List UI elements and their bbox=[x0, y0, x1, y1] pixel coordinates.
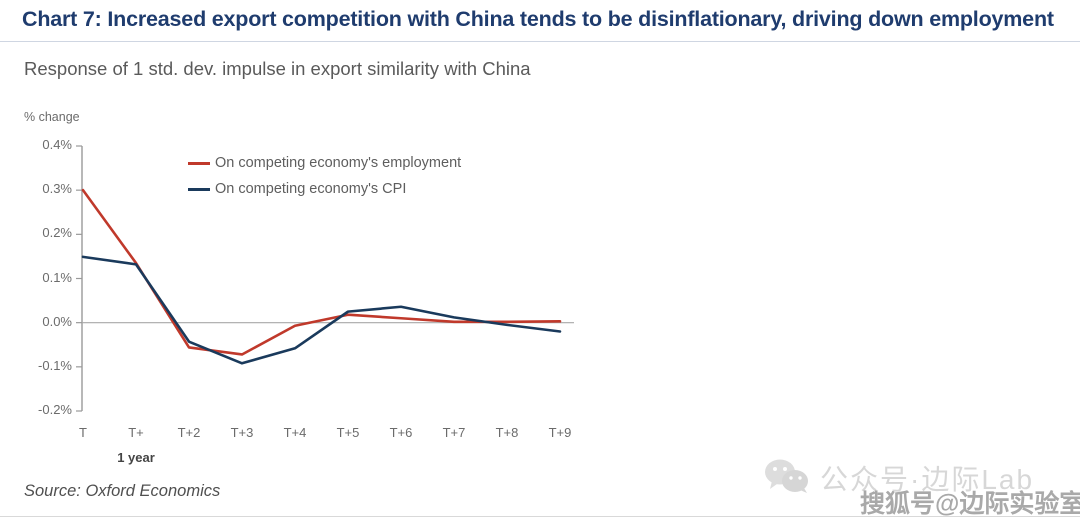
x-axis-label: T+2 bbox=[159, 425, 219, 440]
watermark-sohu-text: 搜狐号@边际实验室 bbox=[860, 484, 1080, 520]
legend-swatch-employment bbox=[188, 162, 210, 165]
y-axis-label: 0.3% bbox=[20, 181, 72, 196]
x-axis-label: T+7 bbox=[424, 425, 484, 440]
x-axis-label: T+9 bbox=[530, 425, 590, 440]
chart-legend: On competing economy's employment On com… bbox=[188, 150, 461, 202]
y-axis-label: 0.0% bbox=[20, 314, 72, 329]
x-axis-label: T+5 bbox=[318, 425, 378, 440]
y-axis-label: 0.1% bbox=[20, 270, 72, 285]
plot-area: 0.4%0.3%0.2%0.1%0.0%-0.1%-0.2%TT+T+2T+3T… bbox=[0, 0, 620, 480]
x-axis-label: T+6 bbox=[371, 425, 431, 440]
wechat-icon bbox=[764, 459, 810, 498]
y-axis-label: 0.4% bbox=[20, 137, 72, 152]
legend-item-employment: On competing economy's employment bbox=[188, 150, 461, 176]
x-axis-label: T bbox=[53, 425, 113, 440]
y-axis-label: 0.2% bbox=[20, 225, 72, 240]
x-axis-label: T+ bbox=[106, 425, 166, 440]
series-line bbox=[83, 257, 560, 363]
x-axis-sublabel: 1 year bbox=[101, 450, 171, 465]
y-axis-label: -0.1% bbox=[20, 358, 72, 373]
legend-item-cpi: On competing economy's CPI bbox=[188, 176, 461, 202]
y-axis-label: -0.2% bbox=[20, 402, 72, 417]
source-note: Source: Oxford Economics bbox=[24, 482, 220, 501]
legend-swatch-cpi bbox=[188, 188, 210, 191]
chart-page: Chart 7: Increased export competition wi… bbox=[0, 0, 1080, 521]
x-axis-label: T+4 bbox=[265, 425, 325, 440]
legend-label-cpi: On competing economy's CPI bbox=[215, 181, 406, 197]
x-axis-label: T+3 bbox=[212, 425, 272, 440]
line-chart-svg bbox=[0, 0, 620, 480]
legend-label-employment: On competing economy's employment bbox=[215, 155, 461, 171]
x-axis-label: T+8 bbox=[477, 425, 537, 440]
